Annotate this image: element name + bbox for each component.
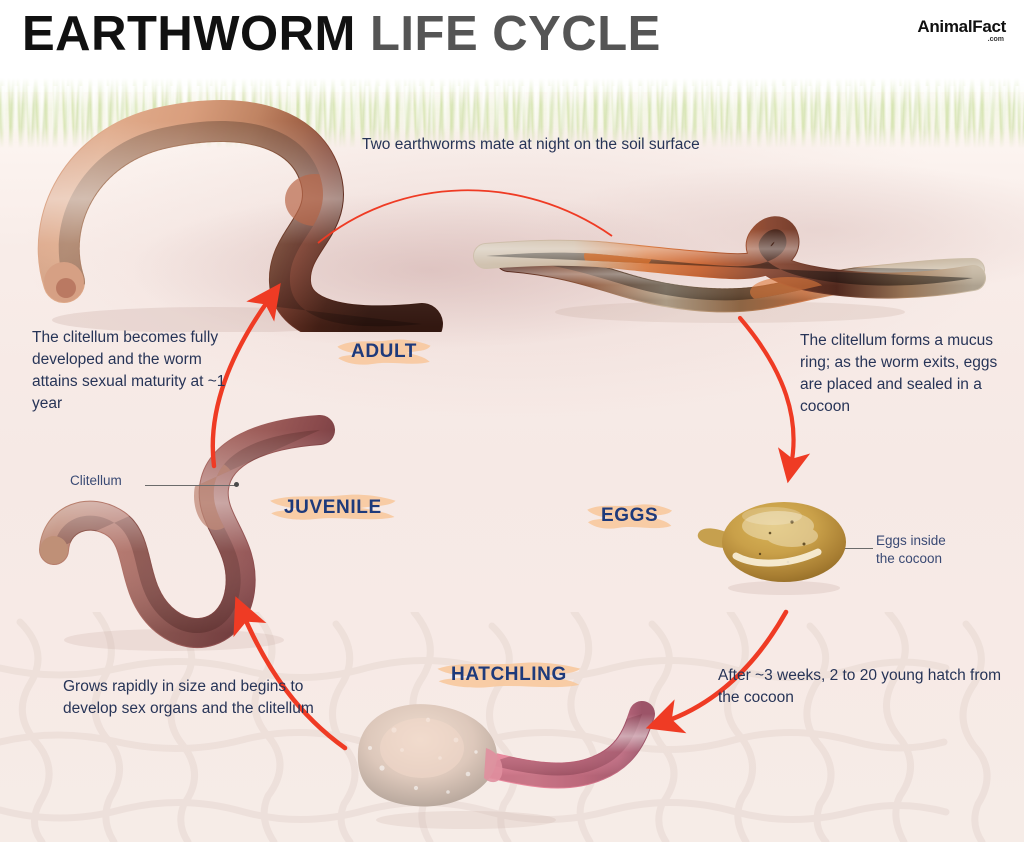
logo-domain-suffix: .com: [917, 36, 1004, 43]
callout-clitellum-label: Clitellum: [70, 472, 122, 490]
note-cocoon-formation: The clitellum forms a mucus ring; as the…: [800, 330, 1005, 418]
adult-earthworm-illustration: [22, 92, 492, 332]
stage-label-hatchling-text: HATCHLING: [451, 664, 567, 685]
stage-label-juvenile-text: JUVENILE: [284, 497, 382, 518]
stage-label-eggs-text: EGGS: [601, 505, 658, 526]
infographic-canvas: EARTHWORM LIFE CYCLE AnimalFact .com: [0, 0, 1024, 842]
stage-label-juvenile: JUVENILE: [268, 490, 398, 526]
mating-earthworms-illustration: [468, 212, 988, 330]
note-mating: Two earthworms mate at night on the soil…: [362, 134, 742, 156]
callout-leader-line-clitellum: [145, 485, 237, 486]
callout-leader-line-eggs: [845, 548, 873, 549]
page-title: EARTHWORM LIFE CYCLE: [22, 10, 661, 59]
brand-logo[interactable]: AnimalFact .com: [917, 18, 1006, 43]
callout-eggs-inside-line1: Eggs inside: [876, 532, 946, 550]
note-hatching: After ~3 weeks, 2 to 20 young hatch from…: [718, 665, 1003, 709]
callout-eggs-inside-line2: the cocoon: [876, 550, 946, 568]
earthworm-cocoon-illustration: [692, 492, 868, 596]
note-growth: Grows rapidly in size and begins to deve…: [63, 676, 338, 720]
stage-label-adult: ADULT: [335, 334, 433, 370]
callout-eggs-inside: Eggs inside the cocoon: [876, 532, 946, 567]
note-maturity: The clitellum becomes fully developed an…: [32, 327, 242, 415]
callout-anchor-dot-clitellum: [234, 482, 239, 487]
stage-label-hatchling: HATCHLING: [435, 657, 583, 693]
title-part-earthworm: EARTHWORM: [22, 7, 356, 61]
logo-text: AnimalFact: [917, 18, 1006, 35]
stage-label-eggs: EGGS: [585, 498, 674, 534]
title-part-life-cycle: LIFE CYCLE: [370, 7, 661, 61]
stage-label-adult-text: ADULT: [351, 341, 417, 362]
hatchling-illustration: [336, 692, 676, 832]
juvenile-earthworm-illustration: [34, 412, 364, 662]
